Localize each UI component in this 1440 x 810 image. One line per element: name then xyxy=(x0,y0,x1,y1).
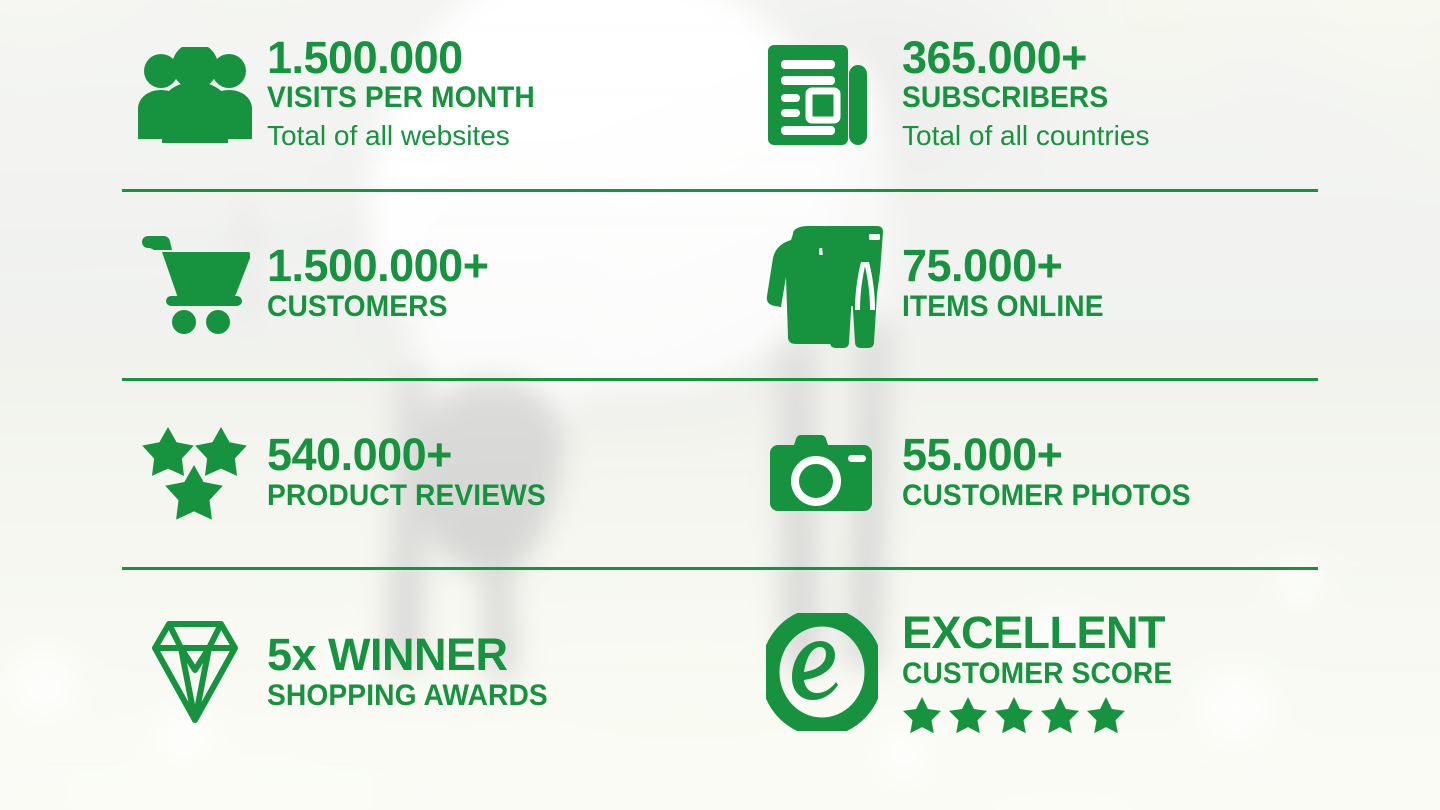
camera-icon xyxy=(742,431,902,515)
diamond-outline-icon xyxy=(122,618,267,726)
stat-number: EXCELLENT xyxy=(902,610,1190,657)
stat-text: 365.000+ SUBSCRIBERS Total of all countr… xyxy=(902,35,1149,155)
star-icon xyxy=(902,696,942,734)
riding-apparel-icon xyxy=(742,218,902,350)
stat-caption: CUSTOMER SCORE xyxy=(902,657,1172,691)
stat-text: EXCELLENT CUSTOMER SCORE xyxy=(902,610,1190,734)
stat-caption: SHOPPING AWARDS xyxy=(267,679,548,713)
stat-row: 5x WINNER SHOPPING AWARDS EXCELLENT CUST… xyxy=(122,567,1318,777)
stat-text: 1.500.000+ CUSTOMERS xyxy=(267,243,488,323)
stat-caption: ITEMS ONLINE xyxy=(902,290,1104,324)
people-group-icon xyxy=(122,47,267,143)
stat-caption: CUSTOMERS xyxy=(267,290,475,324)
stat-row: 540.000+ PRODUCT REVIEWS 55.000+ CUSTOME… xyxy=(122,378,1318,567)
stat-text: 5x WINNER SHOPPING AWARDS xyxy=(267,632,566,712)
statistics-grid: 1.500.000 VISITS PER MONTH Total of all … xyxy=(0,0,1440,810)
star-icon xyxy=(948,696,988,734)
three-stars-icon xyxy=(122,423,267,523)
stat-caption: CUSTOMER PHOTOS xyxy=(902,479,1191,513)
stat-number: 1.500.000 xyxy=(267,35,552,82)
shopping-cart-icon xyxy=(122,234,267,334)
stat-subtitle: Total of all countries xyxy=(902,118,1149,154)
stat-caption: PRODUCT REVIEWS xyxy=(267,479,546,513)
stat-number: 55.000+ xyxy=(902,432,1209,479)
stat-item-items-online: 75.000+ ITEMS ONLINE xyxy=(742,189,1318,378)
stat-item-subscribers: 365.000+ SUBSCRIBERS Total of all countr… xyxy=(742,0,1318,189)
trusted-shops-e-icon xyxy=(742,613,902,731)
stat-number: 540.000+ xyxy=(267,432,564,479)
stat-caption: VISITS PER MONTH xyxy=(267,81,535,115)
stat-caption: SUBSCRIBERS xyxy=(902,81,1135,115)
infographic-stage: 1.500.000 VISITS PER MONTH Total of all … xyxy=(0,0,1440,810)
stat-number: 1.500.000+ xyxy=(267,243,488,290)
stat-text: 75.000+ ITEMS ONLINE xyxy=(902,243,1117,323)
stat-item-customers: 1.500.000+ CUSTOMERS xyxy=(122,189,742,378)
star-icon xyxy=(1040,696,1080,734)
stat-item-customer-score: EXCELLENT CUSTOMER SCORE xyxy=(742,567,1318,777)
stat-text: 540.000+ PRODUCT REVIEWS xyxy=(267,432,564,512)
stat-subtitle: Total of all websites xyxy=(267,118,552,154)
stat-item-shopping-awards: 5x WINNER SHOPPING AWARDS xyxy=(122,567,742,777)
stat-text: 55.000+ CUSTOMER PHOTOS xyxy=(902,432,1209,512)
newspaper-icon xyxy=(742,43,902,147)
stat-row: 1.500.000 VISITS PER MONTH Total of all … xyxy=(122,0,1318,189)
star-icon xyxy=(1086,696,1126,734)
stat-item-customer-photos: 55.000+ CUSTOMER PHOTOS xyxy=(742,378,1318,567)
customer-score-rating xyxy=(902,696,1190,734)
stat-row: 1.500.000+ CUSTOMERS xyxy=(122,189,1318,378)
stat-text: 1.500.000 VISITS PER MONTH Total of all … xyxy=(267,35,552,155)
stat-number: 75.000+ xyxy=(902,243,1117,290)
stat-number: 5x WINNER xyxy=(267,632,566,679)
stat-number: 365.000+ xyxy=(902,35,1149,82)
star-icon xyxy=(994,696,1034,734)
stat-item-product-reviews: 540.000+ PRODUCT REVIEWS xyxy=(122,378,742,567)
stat-item-visits-per-month: 1.500.000 VISITS PER MONTH Total of all … xyxy=(122,0,742,189)
